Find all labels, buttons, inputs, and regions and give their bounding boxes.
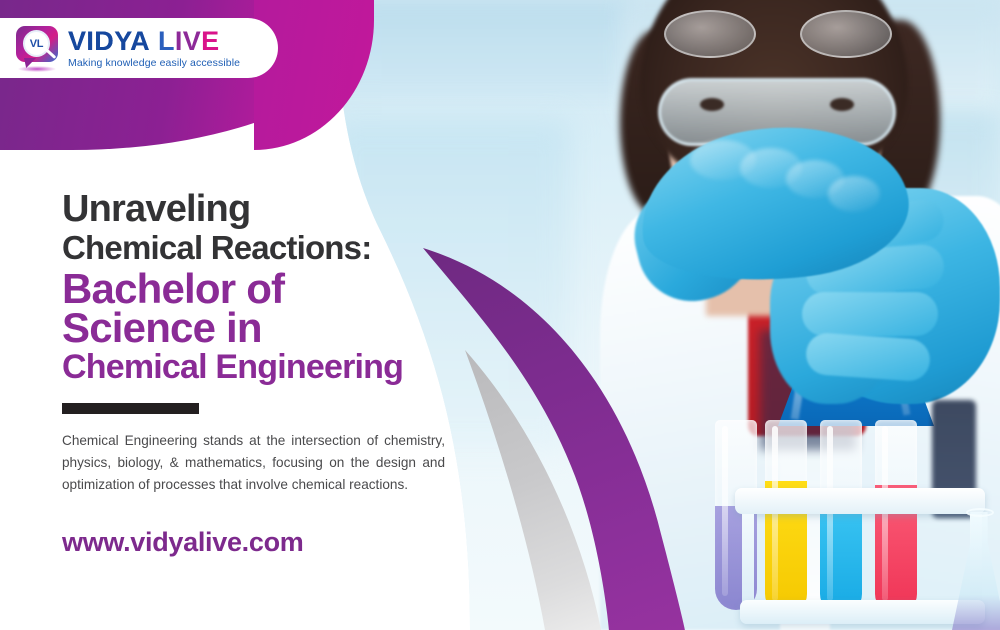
lab-shelf-a bbox=[330, 0, 630, 96]
glove-finger-4 bbox=[805, 332, 932, 383]
logo-icon-shadow bbox=[18, 66, 56, 72]
test-tube-cyan bbox=[820, 420, 862, 615]
logo-word-live-c: E bbox=[201, 26, 219, 56]
goggle-lens-left bbox=[664, 10, 756, 58]
headline-line-2: Chemical Reactions: bbox=[62, 231, 492, 265]
logo-wordmark: VIDYA LIVE bbox=[68, 28, 240, 55]
test-tube-pink bbox=[875, 420, 917, 615]
glove-finger-3 bbox=[802, 292, 938, 336]
logo-icon-lens: VL bbox=[23, 30, 50, 57]
logo-word-vidya: VIDYA bbox=[68, 26, 150, 56]
flask-right-rim bbox=[966, 508, 994, 517]
test-tube-rack-base bbox=[740, 600, 985, 624]
content-block: Unraveling Chemical Reactions: Bachelor … bbox=[62, 190, 492, 558]
headline-line-5: Chemical Engineering bbox=[62, 350, 492, 385]
body-paragraph: Chemical Engineering stands at the inter… bbox=[62, 430, 445, 496]
test-tube-yellow bbox=[765, 420, 807, 615]
website-url[interactable]: www.vidyalive.com bbox=[62, 527, 492, 558]
eye-right bbox=[830, 98, 854, 111]
logo-word-live-a: L bbox=[158, 26, 175, 56]
glove-knuckle-4 bbox=[828, 176, 880, 212]
test-tube-rack-top bbox=[735, 488, 985, 514]
logo-mark-text: VL bbox=[30, 38, 43, 50]
goggle-lens-right bbox=[800, 10, 892, 58]
logo-tagline: Making knowledge easily accessible bbox=[68, 58, 240, 69]
divider-rule bbox=[62, 403, 199, 414]
logo[interactable]: VL VIDYA LIVE Making knowledge easily ac… bbox=[0, 18, 278, 78]
vl-speech-bubble-magnifier-icon: VL bbox=[14, 25, 60, 71]
logo-text: VIDYA LIVE Making knowledge easily acces… bbox=[68, 28, 240, 69]
logo-word-live-b: IV bbox=[175, 26, 201, 56]
rack-leg-left bbox=[742, 514, 754, 602]
headline-line-1: Unraveling bbox=[62, 190, 492, 229]
headline-line-4: Science in bbox=[62, 307, 492, 350]
tube-gloss bbox=[722, 426, 728, 596]
eye-left bbox=[700, 98, 724, 111]
poster-canvas: VL VIDYA LIVE Making knowledge easily ac… bbox=[0, 0, 1000, 630]
